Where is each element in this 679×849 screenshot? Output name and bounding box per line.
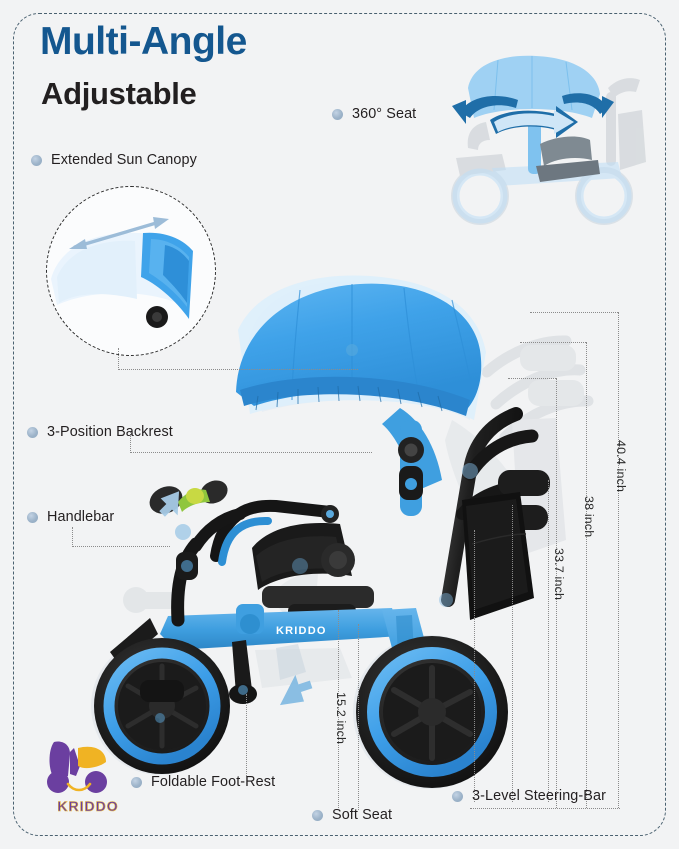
dimline-337-top: [508, 378, 556, 379]
feature-extended-sun-canopy: Extended Sun Canopy: [31, 152, 197, 168]
feature-label-text: Handlebar: [47, 509, 114, 525]
backrest-assembly: [382, 408, 442, 516]
bullet-dot-icon: [312, 810, 323, 821]
dimension-seat-height: 15.2 inch: [334, 692, 348, 744]
feature-label-text: Foldable Foot-Rest: [151, 774, 275, 790]
soft-seat: [252, 523, 374, 620]
leader-steering-1: [474, 530, 475, 802]
canopy-zoom-callout: [46, 186, 216, 356]
feature-label-text: 3-Level Steering-Bar: [472, 788, 606, 804]
feature-handlebar: Handlebar: [27, 509, 114, 525]
dimline-152-vertical: [358, 624, 359, 810]
bullet-dot-icon: [27, 427, 38, 438]
leader-canopy-vertical: [118, 348, 119, 370]
dimension-height-max: 40.4 inch: [614, 440, 628, 492]
rear-wheel: [356, 636, 508, 788]
bullet-dot-icon: [332, 109, 343, 120]
brand-logo-mark: [40, 736, 136, 800]
feature-label-text: 360° Seat: [352, 106, 416, 122]
leader-steering-2: [512, 505, 513, 802]
dimline-38-vertical: [586, 342, 587, 808]
feature-label-text: Soft Seat: [332, 807, 392, 823]
feature-360-seat: 360° Seat: [332, 106, 416, 122]
dimline-404-vertical: [618, 312, 619, 808]
leader-handlebar-horizontal: [72, 546, 170, 547]
feature-label-text: 3-Position Backrest: [47, 424, 173, 440]
dimline-38-top: [520, 342, 586, 343]
bullet-dot-icon: [452, 791, 463, 802]
dimline-baseline: [470, 808, 620, 809]
leader-canopy-horizontal: [118, 369, 358, 370]
brand-logo: KRIDDO: [40, 736, 136, 822]
bullet-dot-icon: [27, 512, 38, 523]
feature-soft-seat: Soft Seat: [312, 807, 392, 823]
page-title-primary: Multi-Angle: [40, 22, 247, 61]
dimension-height-min: 33.7 inch: [552, 548, 566, 600]
frame-decal: KRIDDO: [276, 625, 327, 637]
feature-3-position-backrest: 3-Position Backrest: [27, 424, 173, 440]
feature-label-text: Extended Sun Canopy: [51, 152, 197, 168]
leader-backrest-horizontal: [130, 452, 372, 453]
leader-handlebar-vertical: [72, 527, 73, 547]
leader-footrest-vertical: [246, 694, 247, 776]
page-title-secondary: Adjustable: [41, 78, 196, 109]
feature-3-level-steering-bar: 3-Level Steering-Bar: [452, 788, 606, 804]
dimension-height-mid: 38 inch: [582, 496, 596, 537]
brand-logo-wordmark: KRIDDO: [46, 798, 130, 814]
dimline-404-top: [530, 312, 618, 313]
feature-foldable-foot-rest: Foldable Foot-Rest: [131, 774, 275, 790]
recline-joint: [398, 437, 424, 500]
leader-steering-3: [548, 480, 549, 802]
360-seat-illustration: [432, 48, 672, 228]
infographic-root: KRIDDO: [0, 0, 679, 849]
bullet-dot-icon: [31, 155, 42, 166]
